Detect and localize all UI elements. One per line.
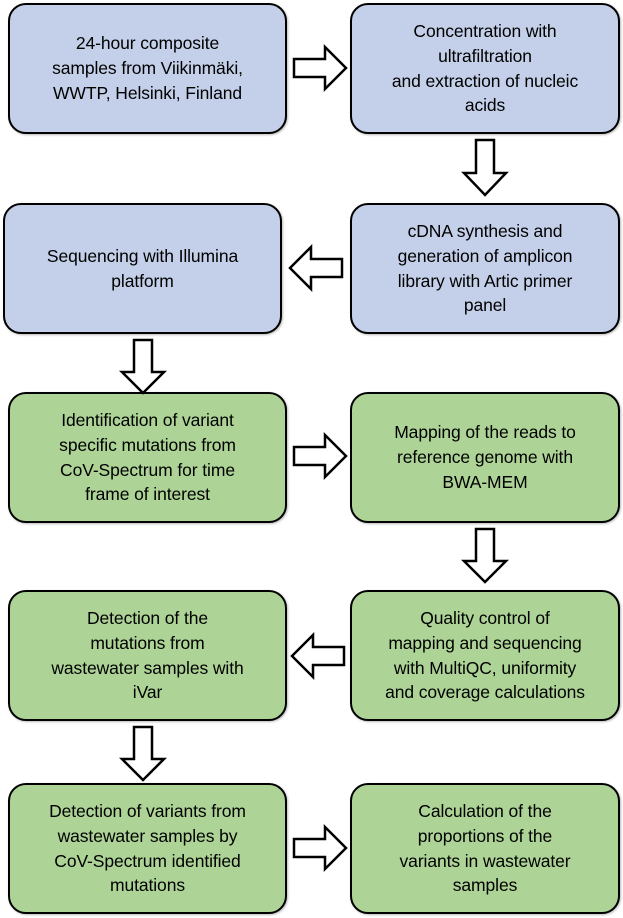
node-cdna-amplicon-library[interactable]: cDNA synthesis and generation of amplico… — [350, 203, 620, 334]
node-label: Detection of the mutations from wastewat… — [20, 606, 275, 705]
node-concentration-extraction[interactable]: Concentration with ultrafiltration and e… — [350, 3, 620, 134]
arrow-right-identify-to-mapping — [292, 430, 348, 482]
node-label: Identification of variant specific mutat… — [20, 408, 275, 507]
flowchart-canvas: 24-hour composite samples from Viikinmäk… — [0, 0, 623, 918]
node-label: Mapping of the reads to reference genome… — [362, 420, 608, 495]
arrow-down-sequencing-to-identify — [119, 338, 167, 396]
node-label: cDNA synthesis and generation of amplico… — [362, 219, 608, 318]
arrow-down-concentration-to-cdna — [461, 138, 509, 198]
node-quality-control-multiqc[interactable]: Quality control of mapping and sequencin… — [350, 590, 620, 721]
arrow-right-detect-variants-to-calculate — [292, 822, 348, 874]
node-label: 24-hour composite samples from Viikinmäk… — [20, 31, 275, 106]
arrow-left-cdna-to-sequencing — [288, 242, 344, 294]
arrow-right-sample-to-concentration — [292, 42, 348, 94]
node-sequencing-illumina[interactable]: Sequencing with Illumina platform — [3, 203, 282, 334]
node-calculate-proportions[interactable]: Calculation of the proportions of the va… — [350, 783, 620, 914]
node-label: Quality control of mapping and sequencin… — [362, 606, 608, 705]
node-label: Concentration with ultrafiltration and e… — [362, 19, 608, 118]
node-identify-variant-mutations[interactable]: Identification of variant specific mutat… — [8, 392, 287, 523]
node-label: Sequencing with Illumina platform — [15, 244, 270, 294]
node-label: Calculation of the proportions of the va… — [362, 799, 608, 898]
arrow-down-detect-mutations-to-detect-variants — [119, 725, 167, 783]
arrow-down-mapping-to-quality-control — [461, 527, 509, 585]
node-label: Detection of variants from wastewater sa… — [20, 799, 275, 898]
node-mapping-bwa-mem[interactable]: Mapping of the reads to reference genome… — [350, 392, 620, 523]
arrow-left-quality-control-to-detect-mutations — [290, 630, 346, 682]
node-sample-collection[interactable]: 24-hour composite samples from Viikinmäk… — [8, 3, 287, 134]
node-detect-mutations-ivar[interactable]: Detection of the mutations from wastewat… — [8, 590, 287, 721]
node-detect-variants-cov-spectrum[interactable]: Detection of variants from wastewater sa… — [8, 783, 287, 914]
